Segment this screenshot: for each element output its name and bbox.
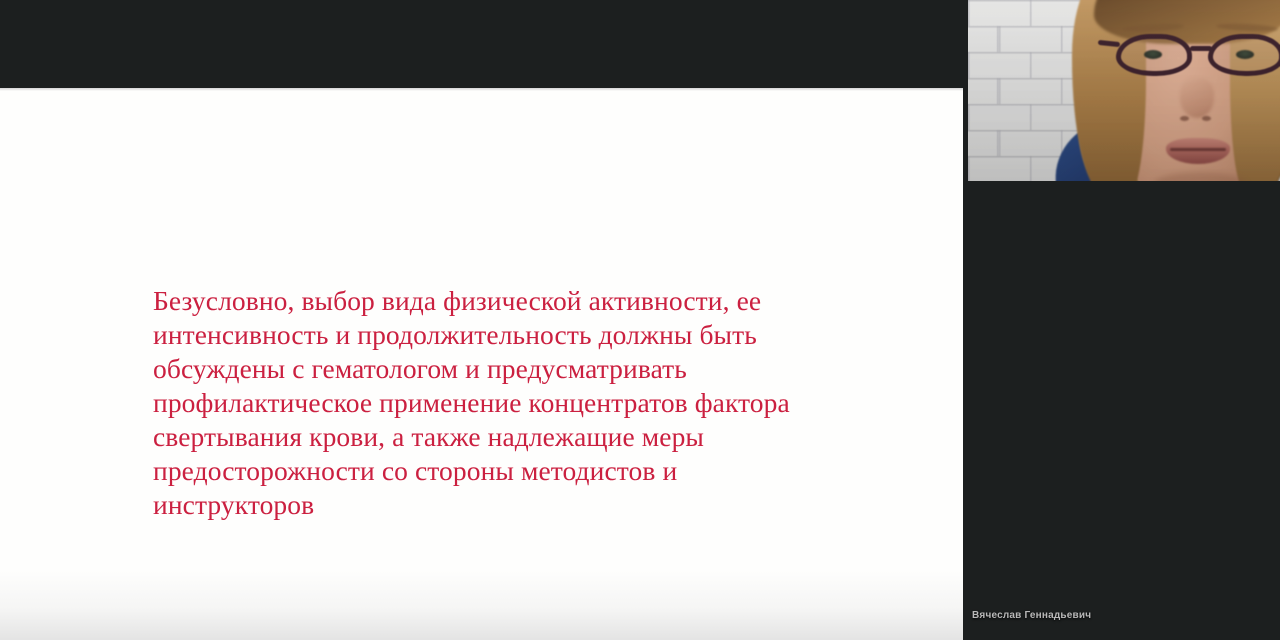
participant-name-label: Вячеслав Геннадьевич	[972, 610, 1091, 621]
shared-slide[interactable]: Безусловно, выбор вида физической активн…	[0, 88, 963, 640]
eyeglass-bridge	[1190, 46, 1212, 51]
slide-text-line: Безусловно, выбор вида физической активн…	[153, 284, 843, 318]
participant-nose	[1180, 78, 1214, 118]
slide-text-block: Безусловно, выбор вида физической активн…	[153, 284, 843, 522]
slide-text-line: предосторожности со стороны методистов и	[153, 454, 843, 488]
participant-mouth-line	[1170, 148, 1226, 151]
slide-text-line: интенсивность и продолжительность должны…	[153, 318, 843, 352]
slide-top-edge	[0, 88, 963, 91]
participant-video-tile[interactable]	[968, 0, 1280, 181]
conference-screen: Безусловно, выбор вида физической активн…	[0, 0, 1280, 640]
participant-eye-right	[1236, 50, 1254, 59]
slide-text-line: инструкторов	[153, 488, 843, 522]
participant-eye-left	[1144, 50, 1162, 59]
participant-nostril-right	[1202, 116, 1211, 121]
participant-nostril-left	[1180, 116, 1189, 121]
eyeglasses-icon	[1116, 34, 1280, 80]
slide-text-line: профилактическое применение концентратов…	[153, 386, 843, 420]
slide-text-line: свертывания крови, а также надлежащие ме…	[153, 420, 843, 454]
slide-text-line: обсуждены с гематологом и предусматриват…	[153, 352, 843, 386]
slide-bottom-sheen	[0, 570, 963, 640]
